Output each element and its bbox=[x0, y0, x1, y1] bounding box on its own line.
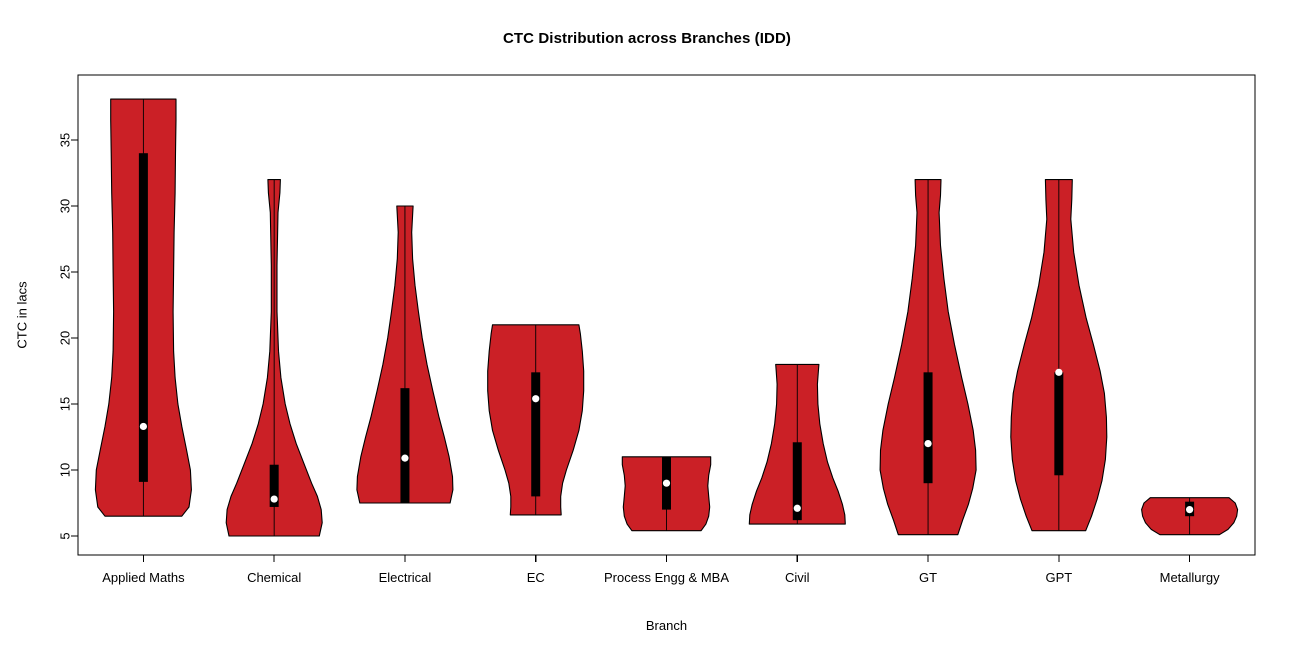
y-tick-label: 15 bbox=[58, 397, 73, 411]
violin-iqr-box bbox=[531, 372, 540, 496]
y-tick-label: 25 bbox=[58, 265, 73, 279]
violin-median-point bbox=[1055, 369, 1062, 376]
violin-median-point bbox=[1186, 506, 1193, 513]
x-tick-label: EC bbox=[527, 570, 545, 585]
violin-median-point bbox=[663, 480, 670, 487]
violin-median-point bbox=[271, 495, 278, 502]
violin-median-point bbox=[794, 505, 801, 512]
y-tick-label: 30 bbox=[58, 199, 73, 213]
y-axis-title: CTC in lacs bbox=[15, 281, 30, 349]
x-tick-label: Electrical bbox=[379, 570, 432, 585]
y-tick-label: 10 bbox=[58, 463, 73, 477]
violin-median-point bbox=[924, 440, 931, 447]
violin-median-point bbox=[401, 455, 408, 462]
violin-iqr-box bbox=[400, 388, 409, 503]
x-tick-label: Metallurgy bbox=[1160, 570, 1220, 585]
x-tick-label: Chemical bbox=[247, 570, 301, 585]
x-tick-label: Applied Maths bbox=[102, 570, 185, 585]
y-tick-label: 5 bbox=[58, 532, 73, 539]
violin-iqr-box bbox=[924, 372, 933, 483]
y-tick-label: 35 bbox=[58, 133, 73, 147]
x-tick-label: GPT bbox=[1045, 570, 1072, 585]
y-tick-label: 20 bbox=[58, 331, 73, 345]
x-tick-label: GT bbox=[919, 570, 937, 585]
x-tick-label: Process Engg & MBA bbox=[604, 570, 729, 585]
violin-plot: 5101520253035CTC in lacsApplied MathsChe… bbox=[0, 0, 1294, 653]
violin-iqr-box bbox=[1054, 372, 1063, 475]
violin-median-point bbox=[532, 395, 539, 402]
chart-canvas: CTC Distribution across Branches (IDD) 5… bbox=[0, 0, 1294, 653]
violin-median-point bbox=[140, 423, 147, 430]
x-axis-title: Branch bbox=[646, 618, 687, 633]
x-tick-label: Civil bbox=[785, 570, 810, 585]
violin-iqr-box bbox=[139, 153, 148, 482]
